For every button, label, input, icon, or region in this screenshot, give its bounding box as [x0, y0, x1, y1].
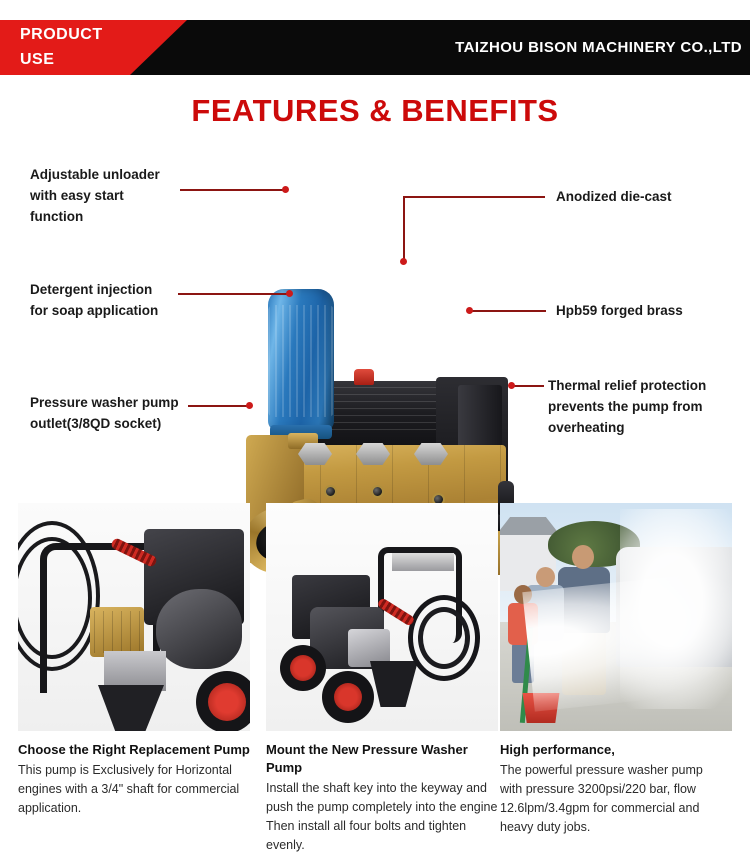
leader-line-detergent — [178, 293, 290, 295]
engine-housing — [156, 589, 242, 669]
leader-line-outlet — [188, 405, 250, 407]
leader-dot-unloader — [282, 186, 289, 193]
wheel-hub-left — [290, 655, 316, 681]
callout-line: overheating — [548, 417, 748, 438]
man-head — [572, 545, 594, 569]
leader-dot-thermal — [508, 382, 515, 389]
callout-line: function — [30, 206, 210, 227]
card-photo-family-washing-car — [500, 503, 732, 731]
company-name: TAIZHOU BISON MACHINERY CO.,LTD — [455, 20, 742, 75]
callout-line: prevents the pump from — [548, 396, 748, 417]
product-use-line2: USE — [20, 47, 103, 72]
water-spray-burst — [620, 509, 732, 709]
card-body: Install the shaft key into the keyway an… — [266, 779, 498, 855]
wheel-hub — [208, 683, 246, 721]
callout-line: Adjustable unloader — [30, 164, 210, 185]
callout-line: Thermal relief protection — [548, 375, 748, 396]
callout-adjustable-unloader: Adjustable unloader with easy start func… — [30, 164, 210, 227]
valve-cap-1 — [324, 485, 337, 498]
callout-line: Pressure washer pump — [30, 392, 230, 413]
card-body-line: The powerful pressure washer pump — [500, 761, 732, 780]
callout-line: outlet(3/8QD socket) — [30, 413, 230, 434]
leader-line-anodized-v — [403, 196, 405, 262]
leader-dot-detergent — [286, 290, 293, 297]
product-use-tag: PRODUCT USE — [20, 22, 103, 72]
product-use-line1: PRODUCT — [20, 22, 103, 47]
leader-dot-anodized — [400, 258, 407, 265]
info-cards: Choose the Right Replacement Pump This p… — [0, 503, 750, 839]
callout-pump-outlet: Pressure washer pump outlet(3/8QD socket… — [30, 392, 230, 434]
card-body-line: with pressure 3200psi/220 bar, flow — [500, 780, 732, 799]
callout-line: Anodized die-cast — [556, 186, 746, 207]
feature-stage: Adjustable unloader with easy start func… — [0, 140, 750, 470]
card-body: The powerful pressure washer pump with p… — [500, 761, 732, 837]
card-body-line: Install the shaft key into the keyway an… — [266, 779, 498, 798]
card-body-line: push the pump completely into the engine — [266, 798, 498, 817]
leader-line-unloader — [180, 189, 286, 191]
card-body-line: heavy duty jobs. — [500, 818, 732, 837]
leader-line-anodized-h — [403, 196, 545, 198]
leader-dot-outlet — [246, 402, 253, 409]
card-body-line: This pump is Exclusively for Horizontal — [18, 761, 250, 780]
grandfather-head — [536, 567, 555, 587]
card-body: This pump is Exclusively for Horizontal … — [18, 761, 250, 818]
card-choose-right-replacement-pump[interactable]: Choose the Right Replacement Pump This p… — [18, 503, 250, 818]
callout-detergent-injection: Detergent injection for soap application — [30, 279, 220, 321]
callout-line: Hpb59 forged brass — [556, 300, 750, 321]
control-panel — [392, 553, 454, 571]
card-body-line: 12.6lpm/3.4gpm for commercial and — [500, 799, 732, 818]
card-title: Mount the New Pressure Washer Pump — [266, 741, 498, 777]
callout-line: for soap application — [30, 300, 220, 321]
card-body-line: application. — [18, 799, 250, 818]
section-title: FEATURES & BENEFITS — [0, 93, 750, 129]
card-photo-full-unit — [266, 503, 498, 731]
card-body-line: Then install all four bolts and tighten … — [266, 817, 498, 855]
red-oil-plug — [354, 369, 374, 385]
leader-dot-brass — [466, 307, 473, 314]
callout-anodized-die-cast: Anodized die-cast — [556, 186, 746, 207]
blue-unloader-valve — [268, 289, 334, 431]
card-title: High performance, — [500, 741, 732, 759]
unloader-ribs — [268, 305, 334, 417]
card-high-performance[interactable]: High performance, The powerful pressure … — [500, 503, 732, 837]
callout-thermal-relief: Thermal relief protection prevents the p… — [548, 375, 748, 438]
leader-line-thermal — [512, 385, 544, 387]
callout-line: Detergent injection — [30, 279, 220, 300]
card-photo-pump-closeup — [18, 503, 250, 731]
callout-forged-brass: Hpb59 forged brass — [556, 300, 750, 321]
card-mount-new-pressure-washer-pump[interactable]: Mount the New Pressure Washer Pump Insta… — [266, 503, 498, 855]
brass-pump — [90, 607, 144, 657]
hose-coil-inner — [418, 607, 470, 669]
wheel-hub-right — [334, 683, 362, 711]
card-body-line: engines with a 3/4" shaft for commercial — [18, 780, 250, 799]
card-title: Choose the Right Replacement Pump — [18, 741, 250, 759]
header-banner: PRODUCT USE TAIZHOU BISON MACHINERY CO.,… — [0, 20, 750, 75]
valve-cap-2 — [371, 485, 384, 498]
leader-line-brass — [470, 310, 546, 312]
